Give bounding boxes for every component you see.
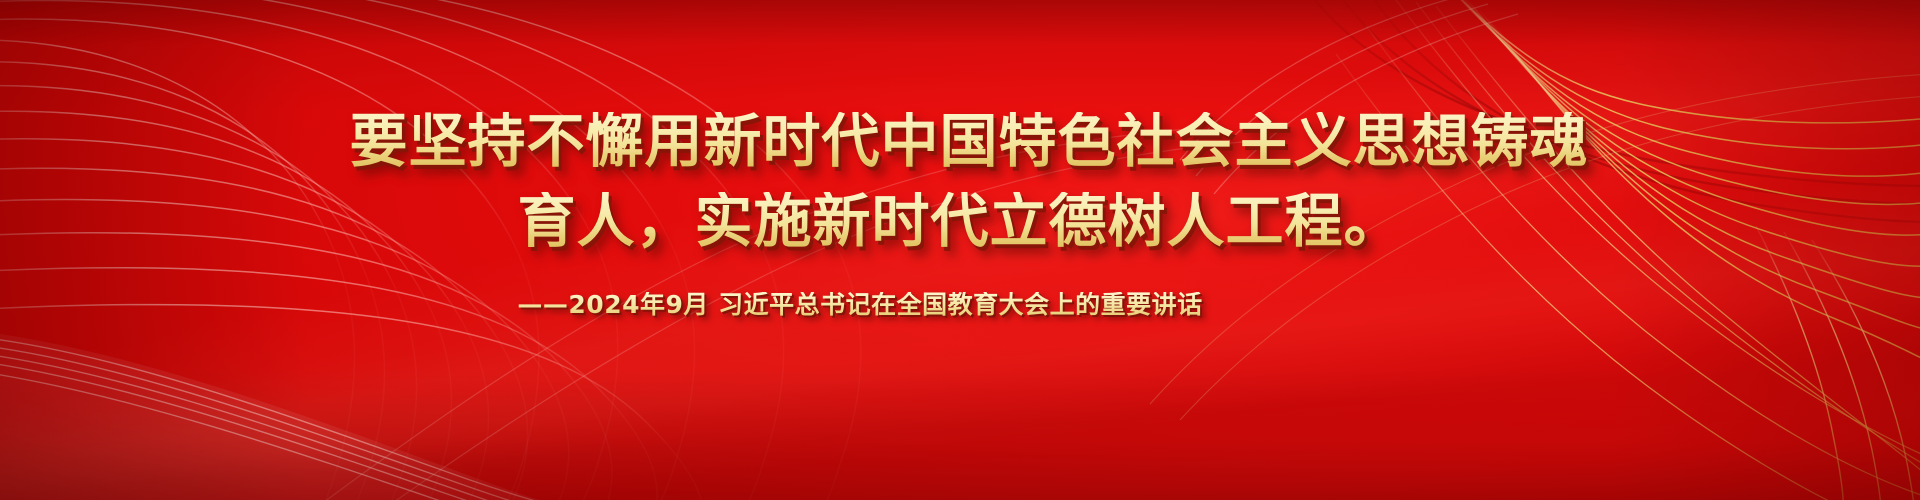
quote-line-2: 育人，实施新时代立德树人工程。 xyxy=(0,192,1920,250)
quote-line-1: 要坚持不懈用新时代中国特色社会主义思想铸魂 xyxy=(0,112,1920,170)
banner-content: 要坚持不懈用新时代中国特色社会主义思想铸魂 育人，实施新时代立德树人工程。 ——… xyxy=(0,0,1920,500)
quote-attribution: ——2024年9月 习近平总书记在全国教育大会上的重要讲话 xyxy=(0,292,1920,317)
red-quote-banner: 要坚持不懈用新时代中国特色社会主义思想铸魂 育人，实施新时代立德树人工程。 ——… xyxy=(0,0,1920,500)
